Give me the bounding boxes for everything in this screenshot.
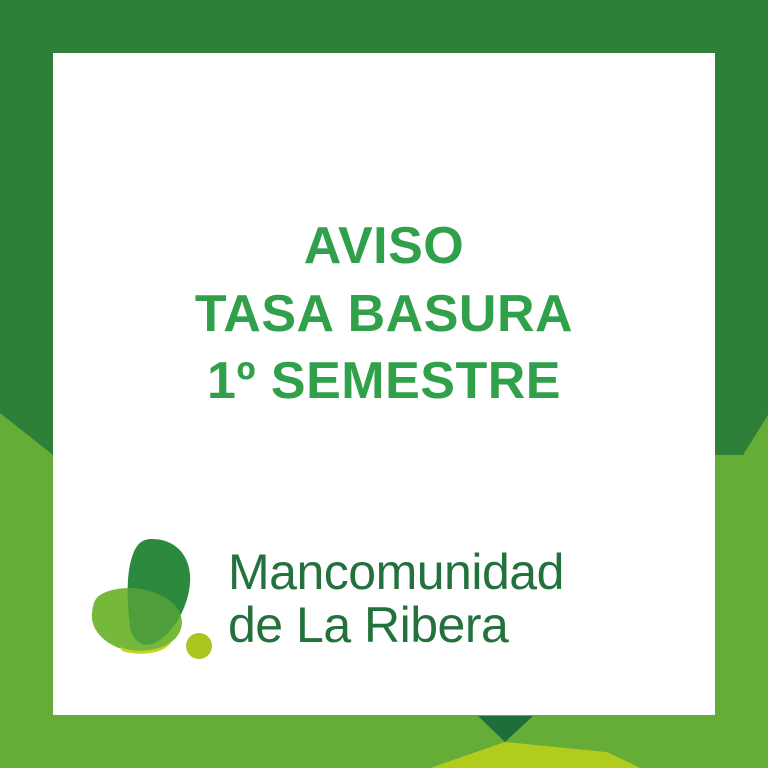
logo-wordmark-line-2: de La Ribera — [228, 599, 564, 652]
headline-line-1: AVISO — [53, 213, 715, 281]
headline-text-block: AVISO TASA BASURA 1º SEMESTRE — [53, 213, 715, 416]
headline-line-3: 1º SEMESTRE — [53, 348, 715, 416]
headline-line-2: TASA BASURA — [53, 281, 715, 349]
logo-wordmark: Mancomunidad de La Ribera — [228, 546, 564, 656]
white-content-card: AVISO TASA BASURA 1º SEMESTRE — [53, 53, 715, 715]
logo-dot-icon — [186, 633, 212, 659]
poster-canvas: AVISO TASA BASURA 1º SEMESTRE — [0, 0, 768, 768]
mancomunidad-leaf-logo-mark — [86, 531, 216, 671]
logo-wordmark-line-1: Mancomunidad — [228, 546, 564, 599]
organization-logo: Mancomunidad de La Ribera — [86, 528, 686, 673]
